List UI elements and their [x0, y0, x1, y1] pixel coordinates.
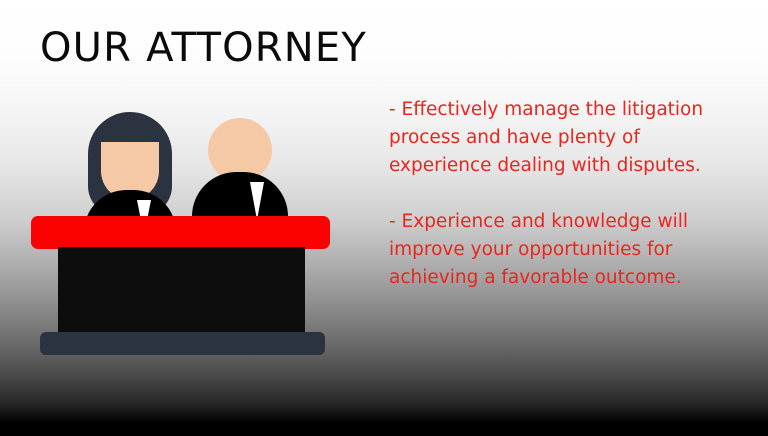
bench-top-bar — [31, 216, 330, 249]
male-collar-icon — [250, 182, 264, 220]
bench-base-bar — [40, 332, 325, 355]
slide-canvas: OUR ATTORNEY - Effectively manage the li… — [0, 0, 768, 436]
bench-body-panel — [58, 247, 305, 334]
attorney-female-figure — [88, 112, 172, 224]
bullet-item: - Experience and knowledge will improve … — [389, 208, 739, 292]
body-text-block: - Effectively manage the litigation proc… — [389, 96, 739, 292]
bullet-item: - Effectively manage the litigation proc… — [389, 96, 739, 180]
attorney-male-figure — [200, 118, 280, 224]
male-robe-shape — [192, 172, 288, 220]
attorneys-illustration — [0, 0, 380, 436]
